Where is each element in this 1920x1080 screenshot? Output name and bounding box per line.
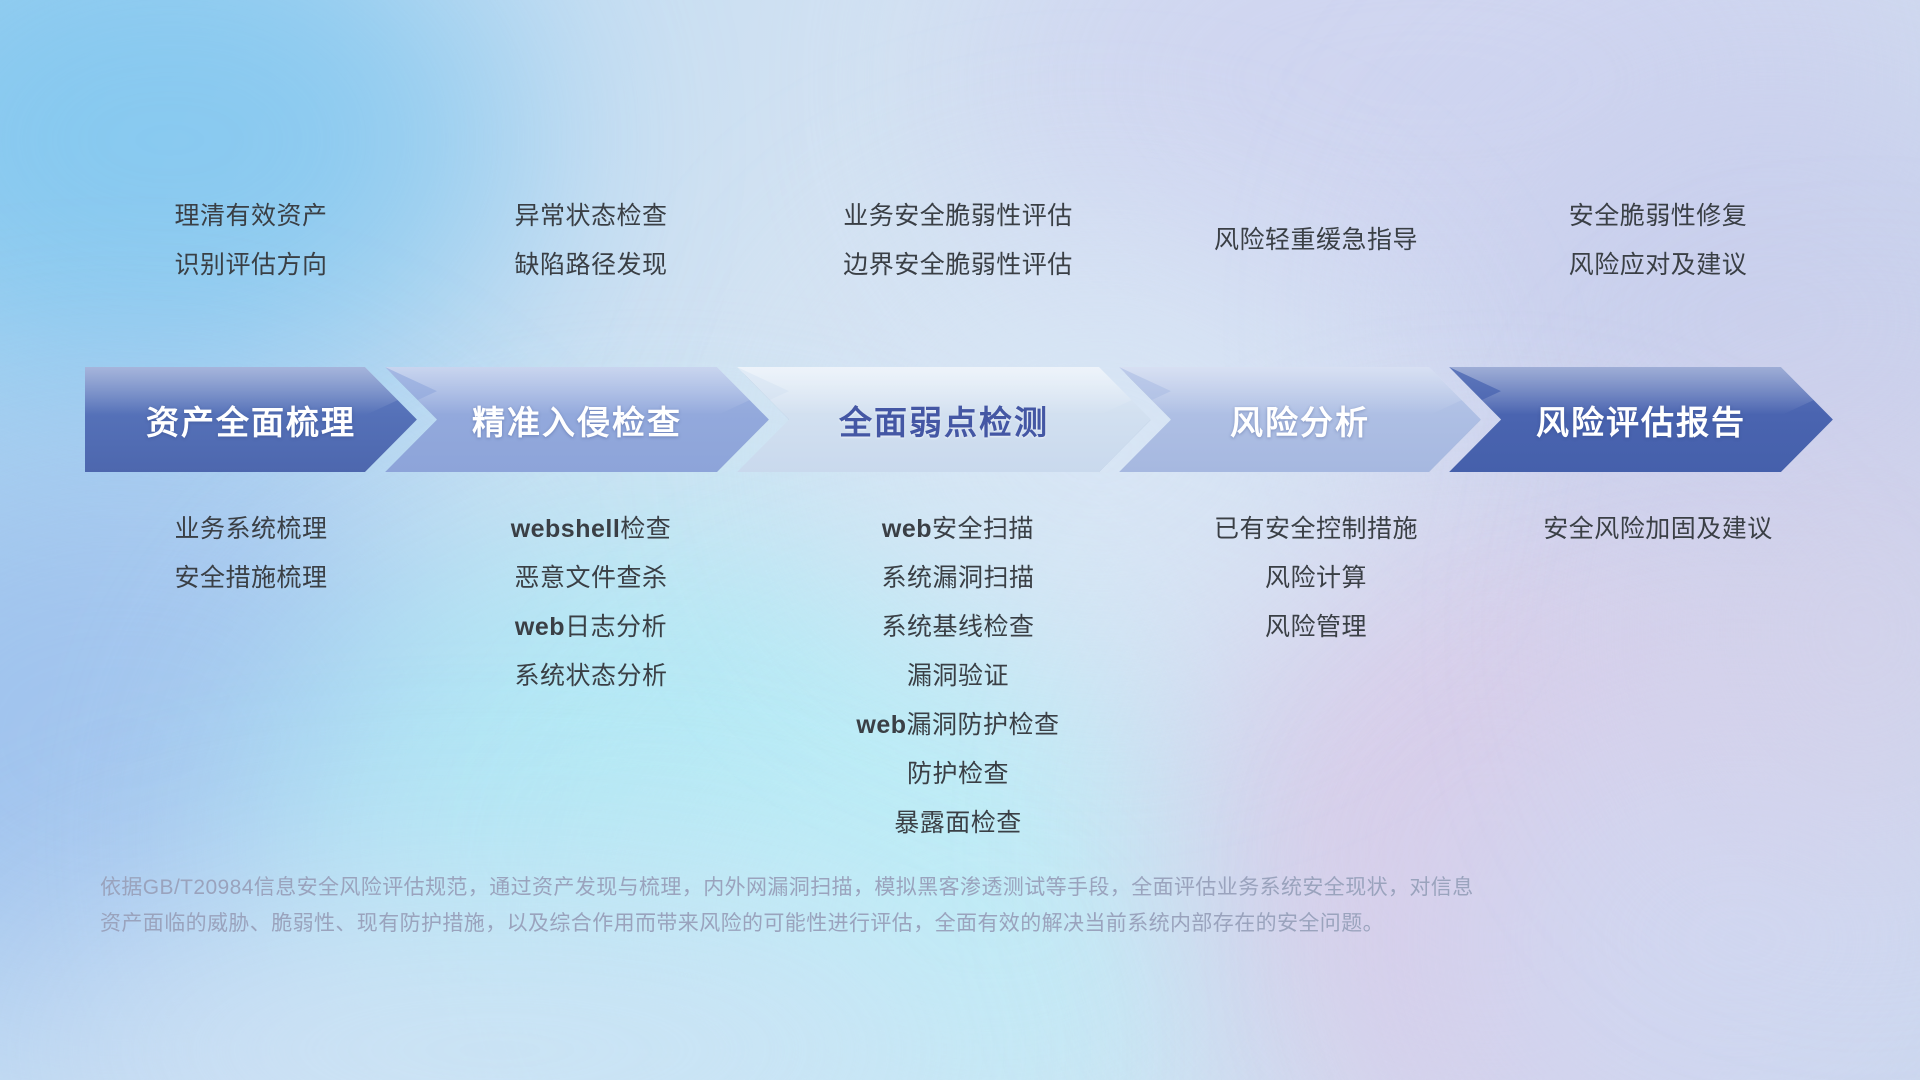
- list-item: 风险计算: [1151, 554, 1481, 603]
- list-item: 暴露面检查: [765, 799, 1151, 848]
- stage-1-inputs: 理清有效资产 识别评估方向: [85, 192, 417, 290]
- list-item: 边界安全脆弱性评估: [765, 241, 1151, 290]
- latin-emphasis: web: [882, 515, 932, 543]
- list-item: 系统漏洞扫描: [765, 554, 1151, 603]
- process-diagram: 理清有效资产 识别评估方向 业务系统梳理 安全措施梳理 异常状态检查 缺陷路径发…: [0, 0, 1920, 1080]
- chevron-stage-4[interactable]: 风险分析: [1119, 367, 1481, 472]
- list-item: web漏洞防护检查: [765, 701, 1151, 750]
- stage-3-inputs: 业务安全脆弱性评估 边界安全脆弱性评估: [765, 192, 1151, 290]
- list-item: 系统基线检查: [765, 603, 1151, 652]
- latin-emphasis: web: [856, 711, 906, 739]
- stage-5-outputs: 安全风险加固及建议: [1481, 505, 1835, 554]
- list-item: 识别评估方向: [85, 241, 417, 290]
- chevron-stage-5[interactable]: 风险评估报告: [1449, 367, 1833, 472]
- list-item: 恶意文件查杀: [417, 554, 765, 603]
- chevron-stage-2[interactable]: 精准入侵检查: [385, 367, 769, 472]
- stage-2-inputs: 异常状态检查 缺陷路径发现: [417, 192, 765, 290]
- stage-5-inputs: 安全脆弱性修复 风险应对及建议: [1481, 192, 1835, 290]
- list-item: 已有安全控制措施: [1151, 505, 1481, 554]
- process-chevron-band: 资产全面梳理 精准入侵检查 全面弱点检测 风险分析 风险评估报告: [85, 367, 1833, 472]
- list-item: 安全风险加固及建议: [1481, 505, 1835, 554]
- list-item: 异常状态检查: [417, 192, 765, 241]
- stage-4-inputs: 风险轻重缓急指导: [1151, 216, 1481, 265]
- chevron-stage-3[interactable]: 全面弱点检测: [737, 367, 1151, 472]
- list-item: 漏洞验证: [765, 652, 1151, 701]
- list-item: 业务系统梳理: [85, 505, 417, 554]
- list-item: web安全扫描: [765, 505, 1151, 554]
- stage-2-outputs: webshell检查 恶意文件查杀 web日志分析 系统状态分析: [417, 505, 765, 701]
- chevron-label: 风险评估报告: [1536, 396, 1746, 444]
- list-item: 风险管理: [1151, 603, 1481, 652]
- chevron-label: 全面弱点检测: [839, 396, 1049, 444]
- footer-line: 依据GB/T20984信息安全风险评估规范，通过资产发现与梳理，内外网漏洞扫描，…: [100, 870, 1800, 906]
- list-item: 理清有效资产: [85, 192, 417, 241]
- list-item: 系统状态分析: [417, 652, 765, 701]
- list-item: 安全脆弱性修复: [1481, 192, 1835, 241]
- footer-line: 资产面临的威胁、脆弱性、现有防护措施，以及综合作用而带来风险的可能性进行评估，全…: [100, 906, 1800, 942]
- list-item: 风险应对及建议: [1481, 241, 1835, 290]
- list-item: webshell检查: [417, 505, 765, 554]
- footer-description: 依据GB/T20984信息安全风险评估规范，通过资产发现与梳理，内外网漏洞扫描，…: [100, 870, 1800, 942]
- stage-1-outputs: 业务系统梳理 安全措施梳理: [85, 505, 417, 603]
- list-item: 业务安全脆弱性评估: [765, 192, 1151, 241]
- stage-4-outputs: 已有安全控制措施 风险计算 风险管理: [1151, 505, 1481, 652]
- chevron-stage-1[interactable]: 资产全面梳理: [85, 367, 417, 472]
- list-item: 安全措施梳理: [85, 554, 417, 603]
- stage-3-outputs: web安全扫描 系统漏洞扫描 系统基线检查 漏洞验证 web漏洞防护检查 防护检…: [765, 505, 1151, 848]
- chevron-label: 资产全面梳理: [146, 396, 356, 444]
- list-item: 防护检查: [765, 750, 1151, 799]
- list-item: 缺陷路径发现: [417, 241, 765, 290]
- latin-emphasis: web: [515, 613, 565, 641]
- list-item: 风险轻重缓急指导: [1151, 216, 1481, 265]
- latin-emphasis: webshell: [511, 515, 621, 543]
- chevron-label: 风险分析: [1230, 396, 1370, 444]
- chevron-label: 精准入侵检查: [472, 396, 682, 444]
- list-item: web日志分析: [417, 603, 765, 652]
